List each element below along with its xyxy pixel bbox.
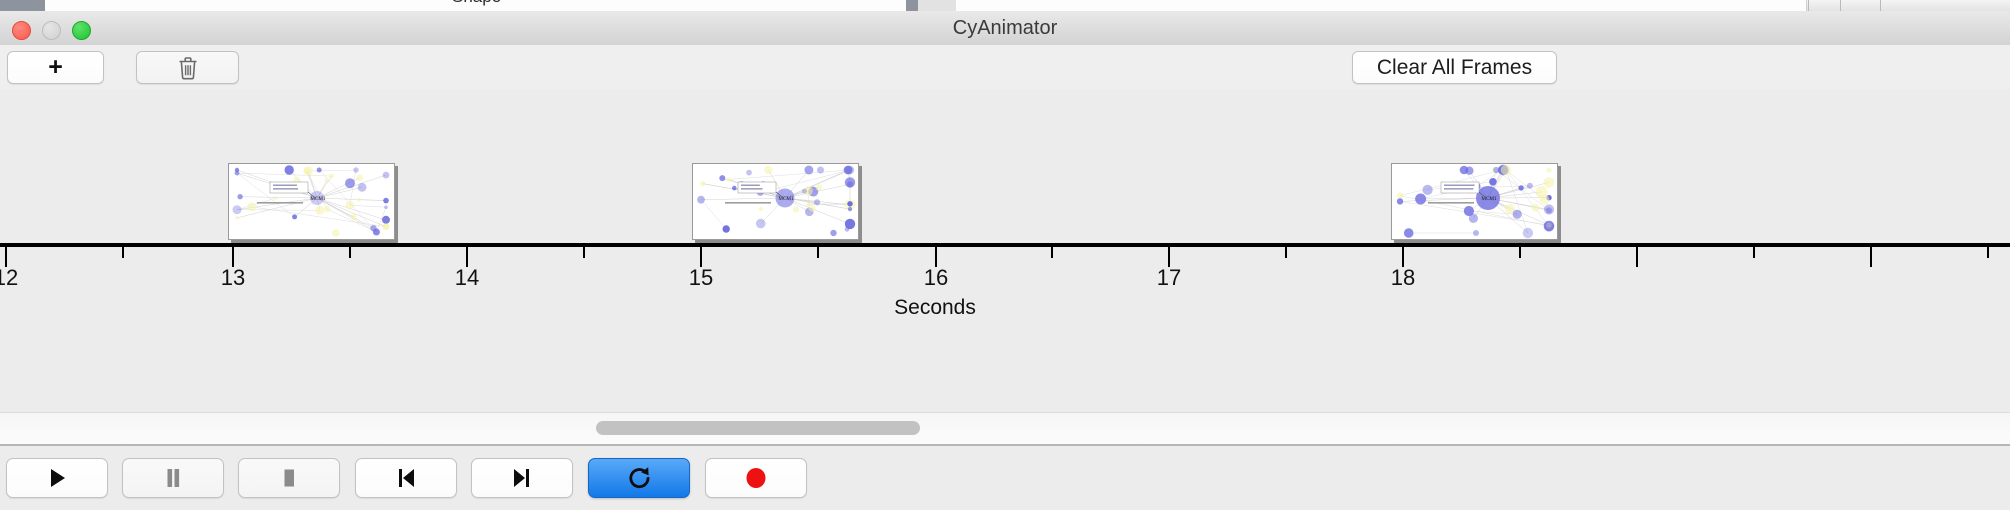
- timeline-scrollbar-thumb[interactable]: [596, 421, 920, 435]
- bg-segment: [248, 0, 307, 11]
- pause-button[interactable]: [122, 458, 224, 498]
- toolbar: + Clear All Frames: [0, 45, 2010, 90]
- ruler-tick: [1168, 247, 1170, 267]
- stop-button[interactable]: [238, 458, 340, 498]
- bg-segment: [180, 0, 249, 11]
- svg-text:MCM1: MCM1: [778, 196, 794, 202]
- ruler-tick-label: 18: [1391, 265, 1415, 291]
- ruler-tick: [1051, 247, 1053, 258]
- ruler-tick: [583, 247, 585, 258]
- ruler-tick: [700, 247, 702, 267]
- ruler-tick-label: 15: [689, 265, 713, 291]
- ruler-tick: [935, 247, 937, 267]
- ruler-tick: [122, 247, 124, 258]
- bg-segment: [45, 0, 181, 11]
- pause-icon: [162, 466, 184, 490]
- clear-all-frames-button[interactable]: Clear All Frames: [1352, 51, 1557, 84]
- frame-thumbnail-3[interactable]: MCM1: [1391, 163, 1558, 240]
- ruler-tick: [1636, 247, 1638, 267]
- svg-text:MCM1: MCM1: [310, 196, 326, 202]
- window-title: CyAnimator: [0, 11, 2010, 45]
- ruler-tick-label: 17: [1157, 265, 1181, 291]
- add-frame-button[interactable]: +: [7, 51, 104, 84]
- svg-text:MCM1: MCM1: [1481, 196, 1497, 202]
- skip-back-icon: [394, 466, 418, 490]
- ruler-tick: [232, 247, 234, 267]
- bg-dark-segment: [0, 0, 45, 11]
- play-button[interactable]: [6, 458, 108, 498]
- ruler-tick: [349, 247, 351, 258]
- playback-bar: Animation Speed:: [0, 446, 2010, 510]
- clear-all-frames-label: Clear All Frames: [1377, 56, 1532, 80]
- bg-dark-segment: [906, 0, 918, 11]
- skip-forward-icon: [510, 466, 534, 490]
- ruler-tick-label: 12: [0, 265, 18, 291]
- bg-segment: [956, 0, 1807, 11]
- skip-to-start-button[interactable]: [355, 458, 457, 498]
- ruler-tick: [817, 247, 819, 258]
- timeline-scrollbar[interactable]: [0, 412, 2010, 446]
- cyanimator-window: Shape CyAnimator + Clear All Frames: [0, 0, 2010, 510]
- timeline-axis-title: Seconds: [894, 296, 976, 320]
- ruler-tick: [1402, 247, 1404, 267]
- ruler-tick: [1753, 247, 1755, 258]
- stop-icon: [278, 466, 300, 490]
- title-bar: CyAnimator: [0, 11, 2010, 46]
- frame-thumbnail-2[interactable]: MCM1: [692, 163, 859, 240]
- record-icon: [743, 465, 769, 491]
- ruler-tick: [1987, 247, 1989, 258]
- bg-segment: [918, 0, 957, 11]
- ruler-tick-label: 13: [221, 265, 245, 291]
- ruler-tick-label: 14: [455, 265, 479, 291]
- record-button[interactable]: [705, 458, 807, 498]
- skip-to-end-button[interactable]: [471, 458, 573, 498]
- loop-icon: [626, 464, 652, 492]
- ruler-tick-label: 16: [924, 265, 948, 291]
- plus-icon: +: [48, 55, 63, 80]
- ruler-tick: [1519, 247, 1521, 258]
- delete-frame-button[interactable]: [136, 51, 239, 84]
- ruler-tick: [1285, 247, 1287, 258]
- frame-thumbnail-1[interactable]: MCM1: [228, 163, 395, 240]
- ruler-tick: [5, 247, 7, 267]
- ruler-tick: [1870, 247, 1872, 267]
- trash-icon: [177, 56, 199, 80]
- timeline-panel[interactable]: MCM1MCM1MCM1 12131415161718 Seconds: [0, 89, 2010, 412]
- bg-segment: [306, 0, 427, 11]
- background-window-strip: Shape: [0, 0, 2010, 11]
- timeline-ruler-line: [0, 243, 2010, 247]
- ruler-tick: [466, 247, 468, 267]
- loop-button[interactable]: [588, 458, 690, 498]
- background-window-label: Shape: [452, 0, 501, 7]
- play-icon: [46, 466, 68, 490]
